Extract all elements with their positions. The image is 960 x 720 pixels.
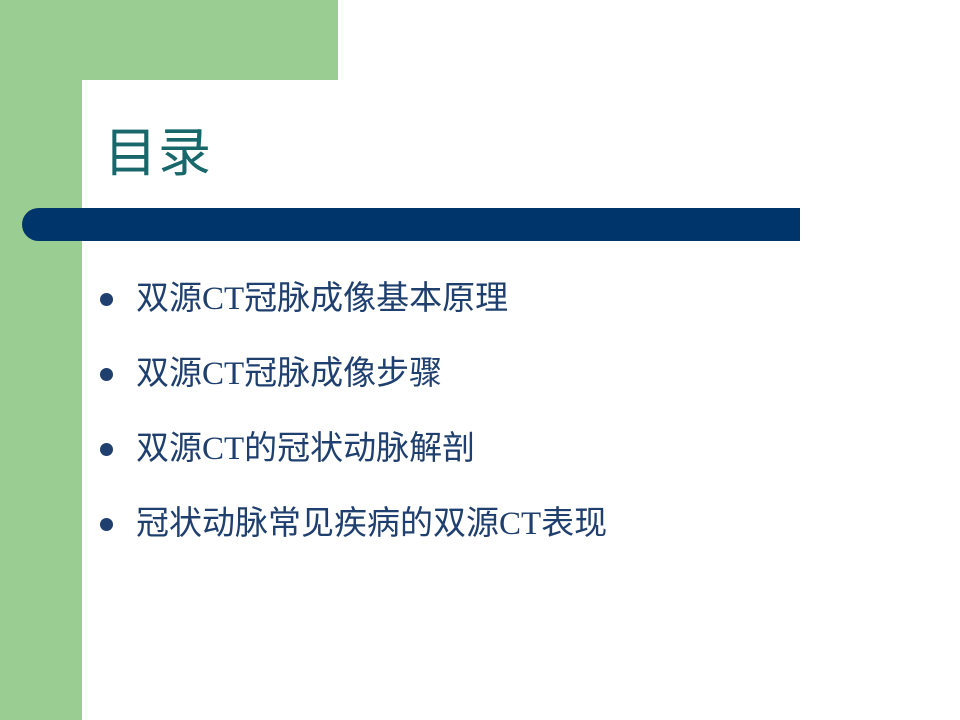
list-item-label: 冠状动脉常见疾病的双源CT表现 bbox=[136, 505, 607, 545]
list-item[interactable]: 双源CT的冠状动脉解剖 bbox=[100, 412, 860, 487]
list-item-label: 双源CT的冠状动脉解剖 bbox=[136, 430, 475, 470]
list-item-label: 双源CT冠脉成像基本原理 bbox=[136, 280, 508, 320]
title-divider-bar bbox=[22, 208, 800, 241]
page-title: 目录 bbox=[104, 125, 212, 184]
list-item[interactable]: 冠状动脉常见疾病的双源CT表现 bbox=[100, 487, 860, 562]
list-item-label: 双源CT冠脉成像步骤 bbox=[136, 355, 442, 395]
green-accent-column bbox=[0, 0, 82, 720]
disc-bullet-icon bbox=[100, 368, 113, 381]
list-item[interactable]: 双源CT冠脉成像步骤 bbox=[100, 337, 860, 412]
disc-bullet-icon bbox=[100, 518, 113, 531]
list-item[interactable]: 双源CT冠脉成像基本原理 bbox=[100, 262, 860, 337]
disc-bullet-icon bbox=[100, 443, 113, 456]
agenda-list: 双源CT冠脉成像基本原理 双源CT冠脉成像步骤 双源CT的冠状动脉解剖 冠状动脉… bbox=[100, 262, 860, 562]
disc-bullet-icon bbox=[100, 293, 113, 306]
presentation-slide: 目录 双源CT冠脉成像基本原理 双源CT冠脉成像步骤 双源CT的冠状动脉解剖 冠… bbox=[0, 0, 960, 720]
